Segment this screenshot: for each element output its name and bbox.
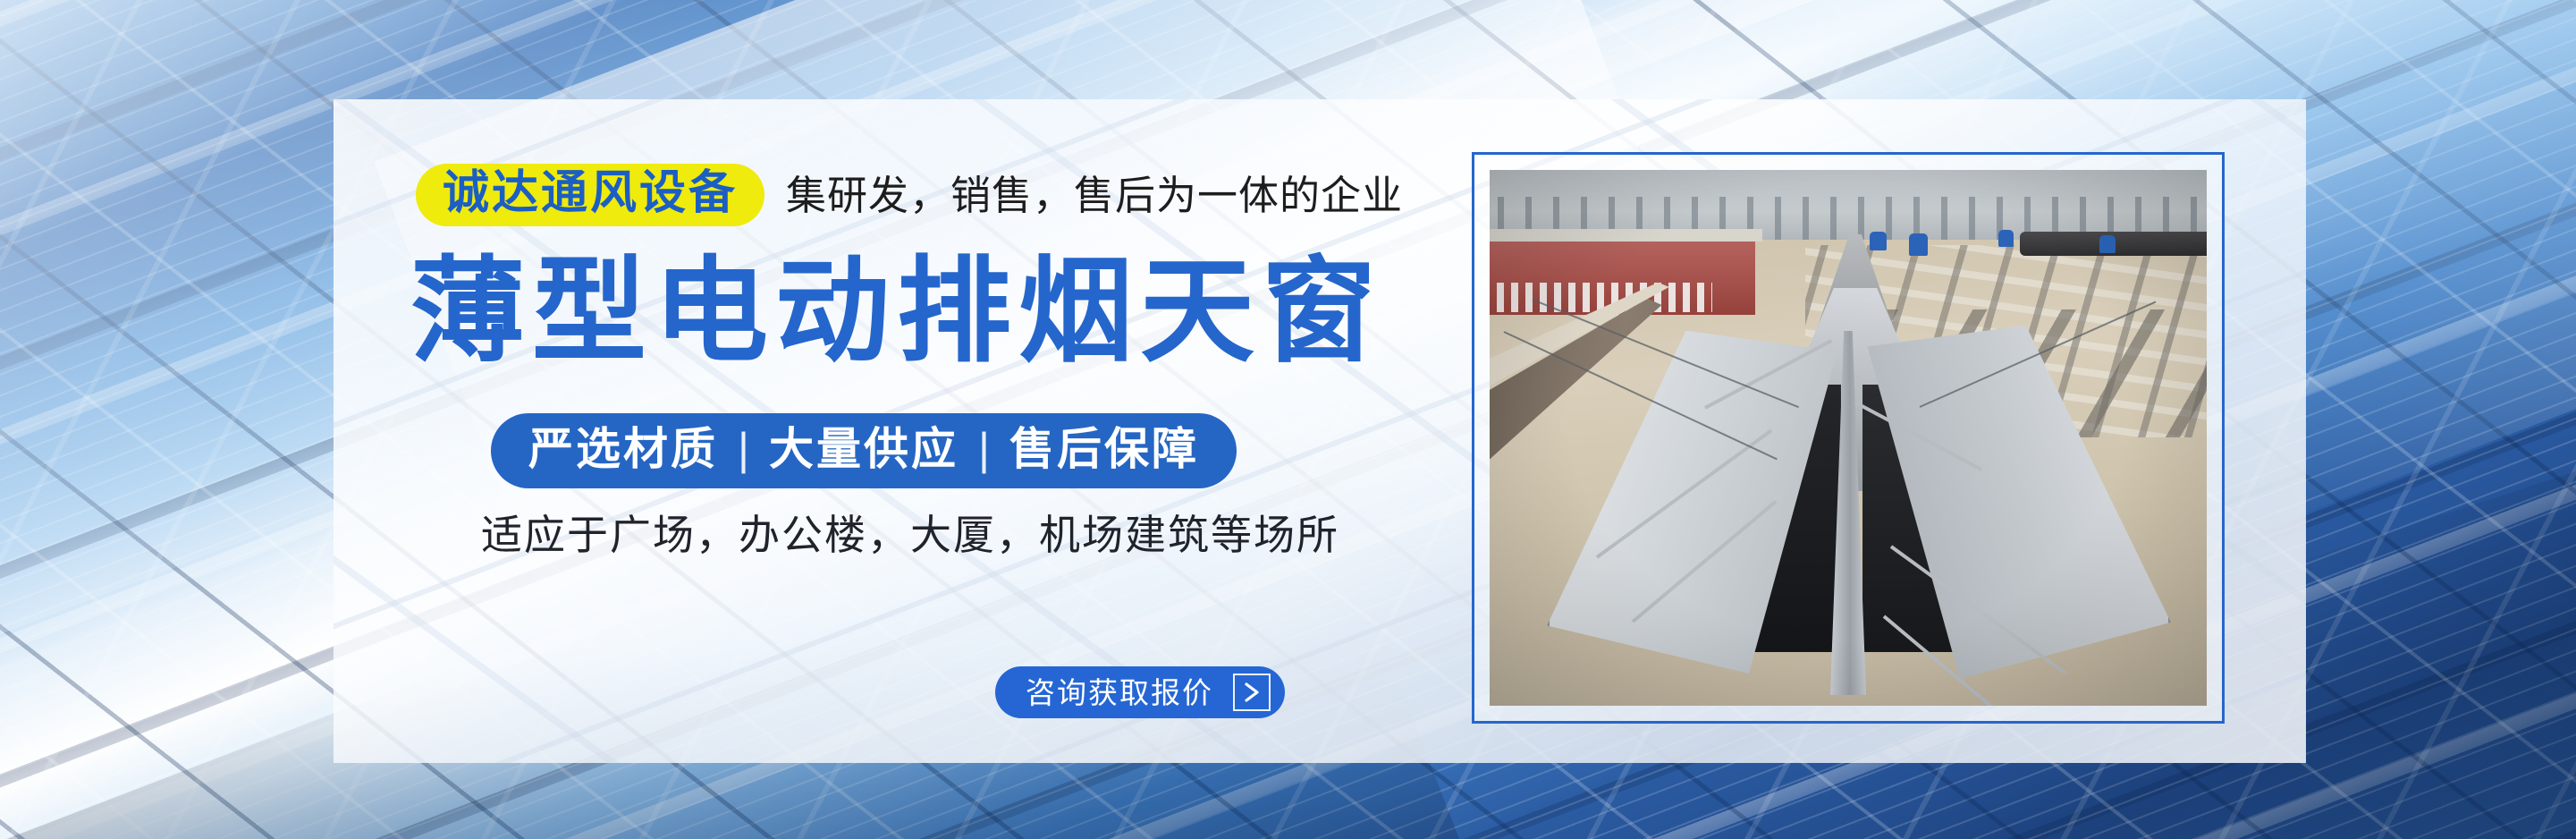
product-photo — [1490, 170, 2207, 706]
chevron-right-icon — [1233, 674, 1271, 711]
feature-separator-1: | — [718, 427, 769, 471]
feature-highlight-bar: 严选材质 | 大量供应 | 售后保障 — [491, 413, 1237, 488]
product-photo-frame — [1472, 152, 2225, 724]
cta-button[interactable]: 咨询获取报价 — [995, 666, 1285, 718]
feature-item-2: 大量供应 — [769, 427, 959, 471]
page-title: 薄型电动排烟天窗 — [410, 255, 1383, 369]
photo-vignette — [1490, 170, 2207, 706]
tagline-text: 集研发，销售，售后为一体的企业 — [786, 175, 1403, 216]
promo-banner: 诚达通风设备 集研发，销售，售后为一体的企业 薄型电动排烟天窗 严选材质 | 大… — [0, 0, 2576, 839]
feature-item-1: 严选材质 — [528, 427, 718, 471]
tagline-row: 诚达通风设备 集研发，销售，售后为一体的企业 — [416, 164, 1403, 226]
brand-badge: 诚达通风设备 — [416, 164, 764, 226]
feature-separator-2: | — [959, 427, 1009, 471]
cta-button-label: 咨询获取报价 — [1026, 678, 1213, 708]
description-text: 适应于广场，办公楼，大厦，机场建筑等场所 — [481, 514, 1339, 555]
feature-item-3: 售后保障 — [1009, 427, 1199, 471]
